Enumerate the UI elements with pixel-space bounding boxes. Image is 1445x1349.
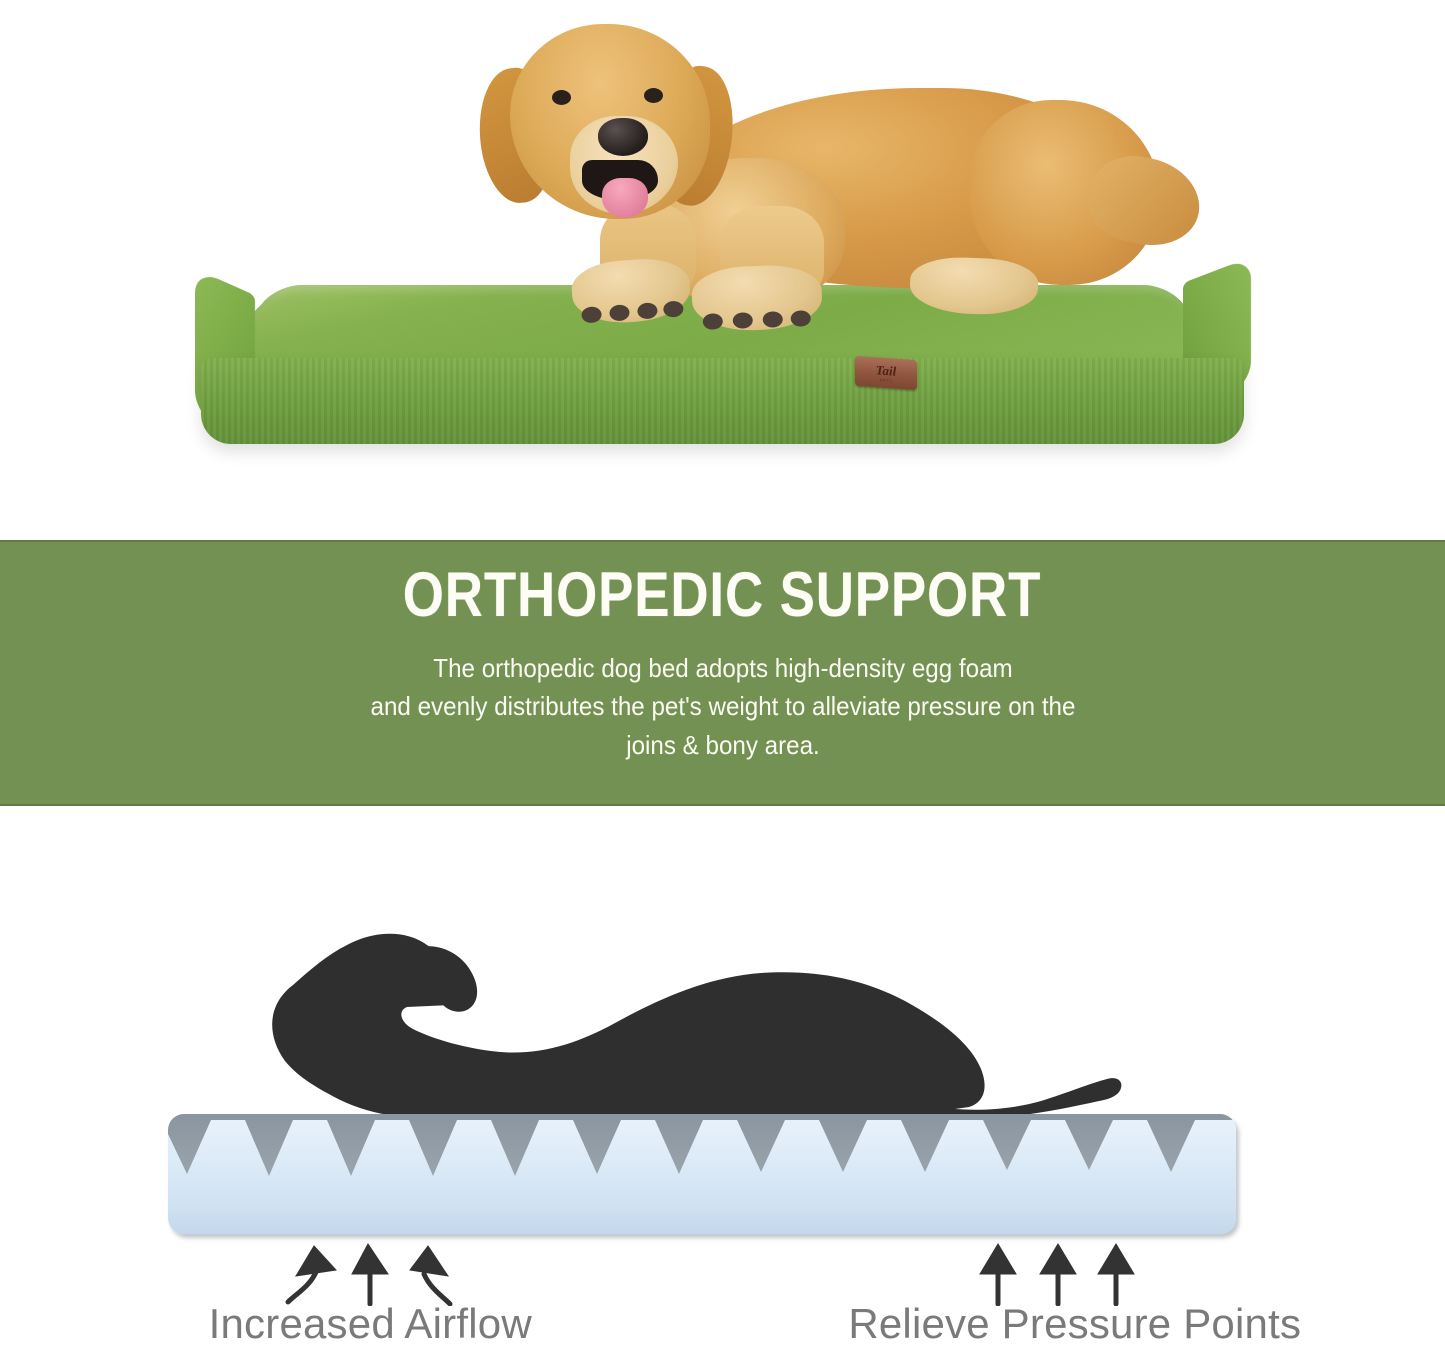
brand-tag-name: Tail <box>876 363 896 377</box>
label-relieve-pressure-points: Relieve Pressure Points <box>723 1303 1445 1349</box>
pressure-arrow-right-2 <box>1040 1244 1076 1304</box>
banner-subtitle-line-1: The orthopedic dog bed adopts high-densi… <box>370 649 1075 687</box>
orthopedic-support-banner: ORTHOPEDIC SUPPORT The orthopedic dog be… <box>0 540 1445 806</box>
egg-crate-foam-slab <box>168 1114 1236 1234</box>
dog-silhouette-icon <box>255 911 1265 1121</box>
label-increased-airflow: Increased Airflow <box>0 1303 723 1349</box>
dog-tongue <box>602 178 648 218</box>
dog-nose <box>598 118 648 156</box>
golden-retriever-photo <box>430 8 1130 338</box>
airflow-pressure-diagram: Increased Airflow Relieve Pressure Point… <box>0 806 1445 1349</box>
airflow-arrows-group <box>0 1236 1445 1306</box>
dog-eye-left <box>552 90 571 105</box>
pressure-arrow-right-3 <box>1098 1244 1134 1304</box>
airflow-arrow-left-3 <box>410 1246 450 1304</box>
brand-tag-sub: PETS <box>880 378 893 383</box>
bed-front-face <box>201 358 1244 444</box>
foam-peaks <box>168 1114 1236 1178</box>
diagram-labels: Increased Airflow Relieve Pressure Point… <box>0 1303 1445 1349</box>
banner-title: ORTHOPEDIC SUPPORT <box>403 564 1041 627</box>
airflow-arrow-left-1 <box>288 1246 336 1302</box>
hero-product-photo: Tail PETS <box>0 0 1445 540</box>
dog-eye-right <box>644 88 663 103</box>
banner-subtitle-line-2: and evenly distributes the pet's weight … <box>370 687 1075 725</box>
dog-paw-1 <box>570 256 692 326</box>
banner-subtitle-line-3: joins & bony area. <box>370 726 1075 764</box>
pressure-arrow-right-1 <box>980 1244 1016 1304</box>
banner-subtitle: The orthopedic dog bed adopts high-densi… <box>370 649 1075 764</box>
product-infographic-page: Tail PETS <box>0 0 1445 1349</box>
dog-paw-2 <box>691 264 823 332</box>
dog-paw-3 <box>909 256 1039 316</box>
airflow-arrow-left-2 <box>352 1244 388 1304</box>
brand-leather-tag: Tail PETS <box>855 356 917 390</box>
